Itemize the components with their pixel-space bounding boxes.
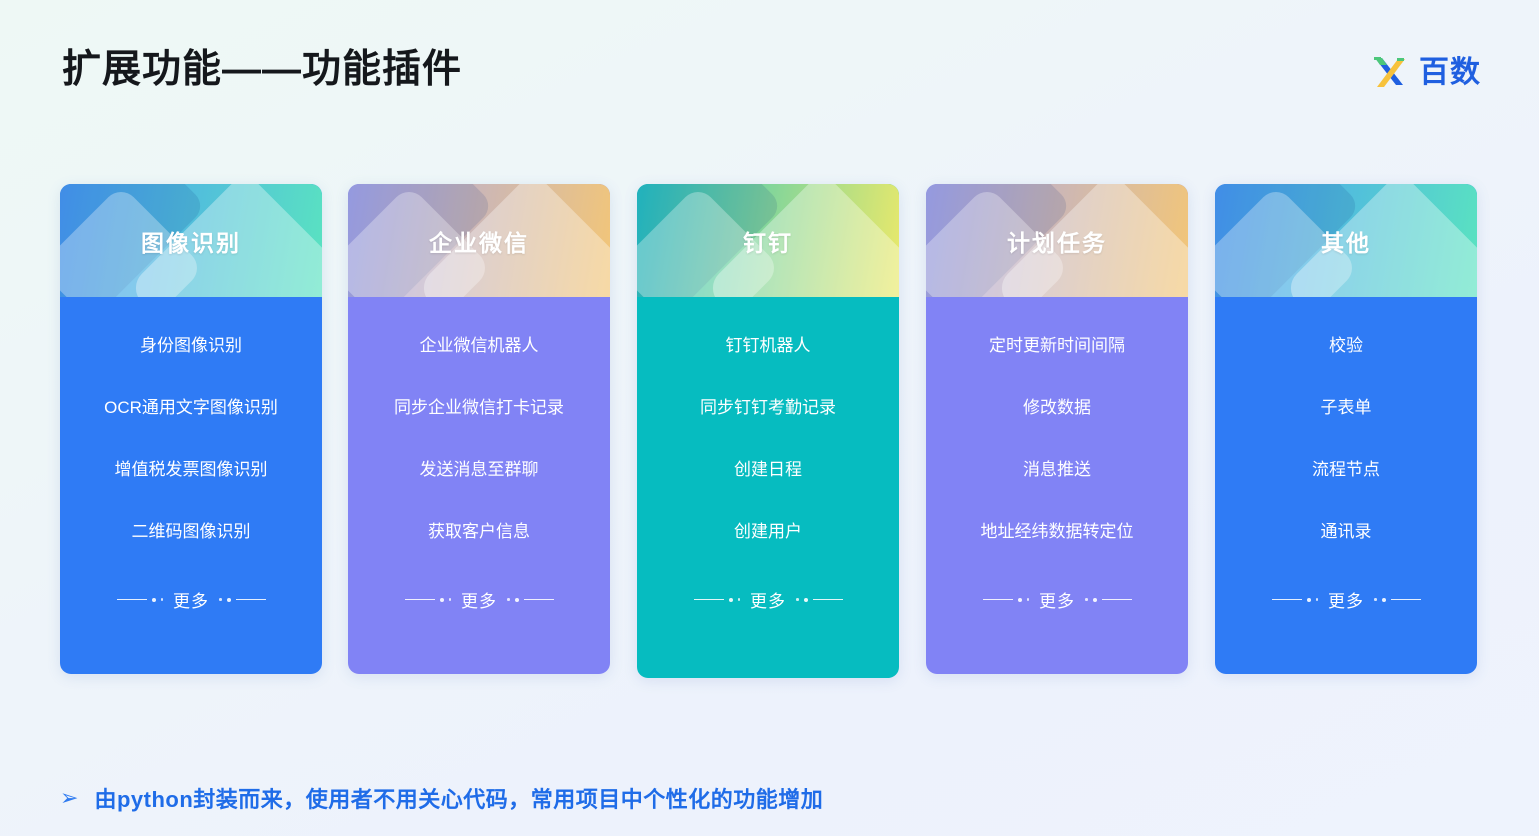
card-body: 企业微信机器人同步企业微信打卡记录发送消息至群聊获取客户信息更多 [348, 297, 610, 636]
divider-small-dot-left [161, 598, 164, 601]
card-list-item[interactable]: 地址经纬数据转定位 [979, 523, 1136, 585]
card-body: 校验子表单流程节点通讯录更多 [1215, 297, 1477, 636]
card-title: 企业微信 [348, 224, 610, 258]
card-title: 其他 [1215, 224, 1477, 258]
divider-line-left [1272, 599, 1302, 601]
more-link[interactable]: 更多 [117, 585, 266, 612]
card-title: 图像识别 [60, 224, 322, 258]
card-header: 其他 [1215, 184, 1477, 297]
divider-small-dot-left [1316, 598, 1319, 601]
divider-dot-left [152, 598, 156, 602]
card-list-item[interactable]: 通讯录 [1319, 523, 1374, 585]
more-label: 更多 [461, 587, 497, 612]
card-header: 计划任务 [926, 184, 1188, 297]
card-list-item[interactable]: 流程节点 [1310, 461, 1382, 523]
divider-small-dot-right [1085, 598, 1088, 601]
divider-dot-right [515, 598, 519, 602]
slide-footer: ➢ 由python封装而来，使用者不用关心代码，常用项目中个性化的功能增加 [60, 782, 823, 814]
card-list-item[interactable]: 同步企业微信打卡记录 [392, 399, 566, 461]
card-header: 钉钉 [637, 184, 899, 297]
card-list-item[interactable]: 企业微信机器人 [418, 337, 541, 399]
feature-card-grid: 图像识别身份图像识别OCR通用文字图像识别增值税发票图像识别二维码图像识别更多企… [0, 0, 1539, 836]
divider-line-left [117, 599, 147, 601]
card-list-item[interactable]: 子表单 [1319, 399, 1374, 461]
more-link[interactable]: 更多 [983, 585, 1132, 612]
card-body: 定时更新时间间隔修改数据消息推送地址经纬数据转定位更多 [926, 297, 1188, 636]
feature-card[interactable]: 企业微信企业微信机器人同步企业微信打卡记录发送消息至群聊获取客户信息更多 [348, 184, 610, 674]
divider-dot-right [227, 598, 231, 602]
more-label: 更多 [173, 587, 209, 612]
card-list-item[interactable]: 创建日程 [732, 461, 804, 523]
divider-line-right [1102, 599, 1132, 601]
divider-dot-right [1093, 598, 1097, 602]
divider-line-right [236, 599, 266, 601]
more-link[interactable]: 更多 [1272, 585, 1421, 612]
card-header: 企业微信 [348, 184, 610, 297]
card-list-item[interactable]: 修改数据 [1021, 399, 1093, 461]
card-body: 钉钉机器人同步钉钉考勤记录创建日程创建用户更多 [637, 297, 899, 636]
divider-small-dot-left [738, 598, 741, 601]
card-list-item[interactable]: 同步钉钉考勤记录 [698, 399, 838, 461]
card-header: 图像识别 [60, 184, 322, 297]
divider-small-dot-right [1374, 598, 1377, 601]
card-list-item[interactable]: OCR通用文字图像识别 [102, 399, 280, 461]
divider-small-dot-left [1027, 598, 1030, 601]
divider-line-left [405, 599, 435, 601]
divider-dot-right [1382, 598, 1386, 602]
card-list-item[interactable]: 发送消息至群聊 [418, 461, 541, 523]
card-list-item[interactable]: 创建用户 [732, 523, 804, 585]
divider-line-right [813, 599, 843, 601]
divider-dot-left [729, 598, 733, 602]
more-link[interactable]: 更多 [694, 585, 843, 612]
slide-root: 扩展功能——功能插件 百数 图像识别身份图像识别OCR通用文字图像识别增值税发票… [0, 0, 1539, 836]
feature-card[interactable]: 其他校验子表单流程节点通讯录更多 [1215, 184, 1477, 674]
divider-small-dot-right [796, 598, 799, 601]
card-list-item[interactable]: 身份图像识别 [138, 337, 244, 399]
footer-note: 由python封装而来，使用者不用关心代码，常用项目中个性化的功能增加 [94, 782, 823, 814]
divider-line-left [694, 599, 724, 601]
divider-dot-left [440, 598, 444, 602]
divider-small-dot-right [219, 598, 222, 601]
more-label: 更多 [750, 587, 786, 612]
divider-line-right [1391, 599, 1421, 601]
card-list-item[interactable]: 校验 [1327, 337, 1365, 399]
divider-dot-left [1307, 598, 1311, 602]
card-list-item[interactable]: 二维码图像识别 [130, 523, 253, 585]
card-list-item[interactable]: 消息推送 [1021, 461, 1093, 523]
arrow-bullet-icon: ➢ [60, 787, 78, 809]
card-list-item[interactable]: 钉钉机器人 [724, 337, 813, 399]
feature-card[interactable]: 计划任务定时更新时间间隔修改数据消息推送地址经纬数据转定位更多 [926, 184, 1188, 674]
divider-dot-left [1018, 598, 1022, 602]
feature-card[interactable]: 钉钉钉钉机器人同步钉钉考勤记录创建日程创建用户更多 [637, 184, 899, 678]
card-list-item[interactable]: 获取客户信息 [426, 523, 532, 585]
card-body: 身份图像识别OCR通用文字图像识别增值税发票图像识别二维码图像识别更多 [60, 297, 322, 636]
divider-small-dot-left [449, 598, 452, 601]
card-title: 钉钉 [637, 224, 899, 258]
feature-card[interactable]: 图像识别身份图像识别OCR通用文字图像识别增值税发票图像识别二维码图像识别更多 [60, 184, 322, 674]
more-link[interactable]: 更多 [405, 585, 554, 612]
card-title: 计划任务 [926, 224, 1188, 258]
card-list-item[interactable]: 增值税发票图像识别 [113, 461, 270, 523]
divider-small-dot-right [507, 598, 510, 601]
card-list-item[interactable]: 定时更新时间间隔 [987, 337, 1127, 399]
more-label: 更多 [1328, 587, 1364, 612]
divider-line-left [983, 599, 1013, 601]
more-label: 更多 [1039, 587, 1075, 612]
divider-line-right [524, 599, 554, 601]
divider-dot-right [804, 598, 808, 602]
